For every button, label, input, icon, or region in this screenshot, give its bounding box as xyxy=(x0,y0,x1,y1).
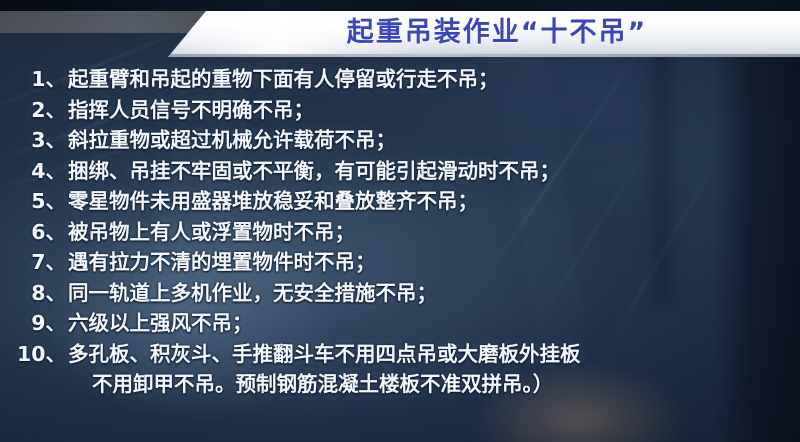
list-item: 8、 同一轨道上多机作业，无安全措施不吊； xyxy=(0,278,800,309)
list-item: 3、 斜拉重物或超过机械允许载荷不吊； xyxy=(0,125,800,156)
list-item-text: 六级以上强风不吊； xyxy=(68,308,253,339)
list-item-text: 被吊物上有人或浮置物时不吊； xyxy=(68,217,355,248)
list-item-text: 同一轨道上多机作业，无安全措施不吊； xyxy=(68,278,437,309)
list-item: 7、 遇有拉力不清的埋置物件时不吊； xyxy=(0,247,800,278)
list-item: 5、 零星物件未用盛器堆放稳妥和叠放整齐不吊； xyxy=(0,186,800,217)
rules-list: 1、 起重臂和吊起的重物下面有人停留或行走不吊； 2、 指挥人员信号不明确不吊；… xyxy=(0,64,800,400)
list-item-continuation: 不用卸甲不吊。预制钢筋混凝土楼板不准双拼吊。） xyxy=(0,369,800,400)
list-item-number: 1、 xyxy=(0,64,68,95)
list-item-number: 3、 xyxy=(0,125,68,156)
list-item: 2、 指挥人员信号不明确不吊； xyxy=(0,95,800,126)
list-item-number: 10、 xyxy=(0,339,68,370)
list-item: 9、 六级以上强风不吊； xyxy=(0,308,800,339)
page-title: 起重吊装作业“十不吊” xyxy=(168,11,800,55)
banner-underline xyxy=(168,54,800,57)
list-item-text: 遇有拉力不清的埋置物件时不吊； xyxy=(68,247,376,278)
list-item-number: 8、 xyxy=(0,278,68,309)
list-item-text: 斜拉重物或超过机械允许载荷不吊； xyxy=(68,125,396,156)
title-banner: 起重吊装作业“十不吊” xyxy=(168,11,800,57)
list-item-number: 5、 xyxy=(0,186,68,217)
list-item-number: 7、 xyxy=(0,247,68,278)
list-item-number: 2、 xyxy=(0,95,68,126)
list-item: 6、 被吊物上有人或浮置物时不吊； xyxy=(0,217,800,248)
list-item-text: 捆绑、吊挂不牢固或不平衡，有可能引起滑动时不吊； xyxy=(68,156,560,187)
list-item-text: 多孔板、积灰斗、手推翻斗车不用四点吊或大磨板外挂板 xyxy=(68,339,581,370)
background-top-strip xyxy=(0,0,800,11)
list-item: 4、 捆绑、吊挂不牢固或不平衡，有可能引起滑动时不吊； xyxy=(0,156,800,187)
list-item-number: 9、 xyxy=(0,308,68,339)
list-item: 1、 起重臂和吊起的重物下面有人停留或行走不吊； xyxy=(0,64,800,95)
list-item-number: 6、 xyxy=(0,217,68,248)
list-item-text: 零星物件未用盛器堆放稳妥和叠放整齐不吊； xyxy=(68,186,478,217)
list-item-text: 指挥人员信号不明确不吊； xyxy=(68,95,314,126)
list-item: 10、 多孔板、积灰斗、手推翻斗车不用四点吊或大磨板外挂板 xyxy=(0,339,800,370)
list-item-number: 4、 xyxy=(0,156,68,187)
slide-root: 起重吊装作业“十不吊” 1、 起重臂和吊起的重物下面有人停留或行走不吊； 2、 … xyxy=(0,0,800,442)
list-item-text: 起重臂和吊起的重物下面有人停留或行走不吊； xyxy=(68,64,499,95)
